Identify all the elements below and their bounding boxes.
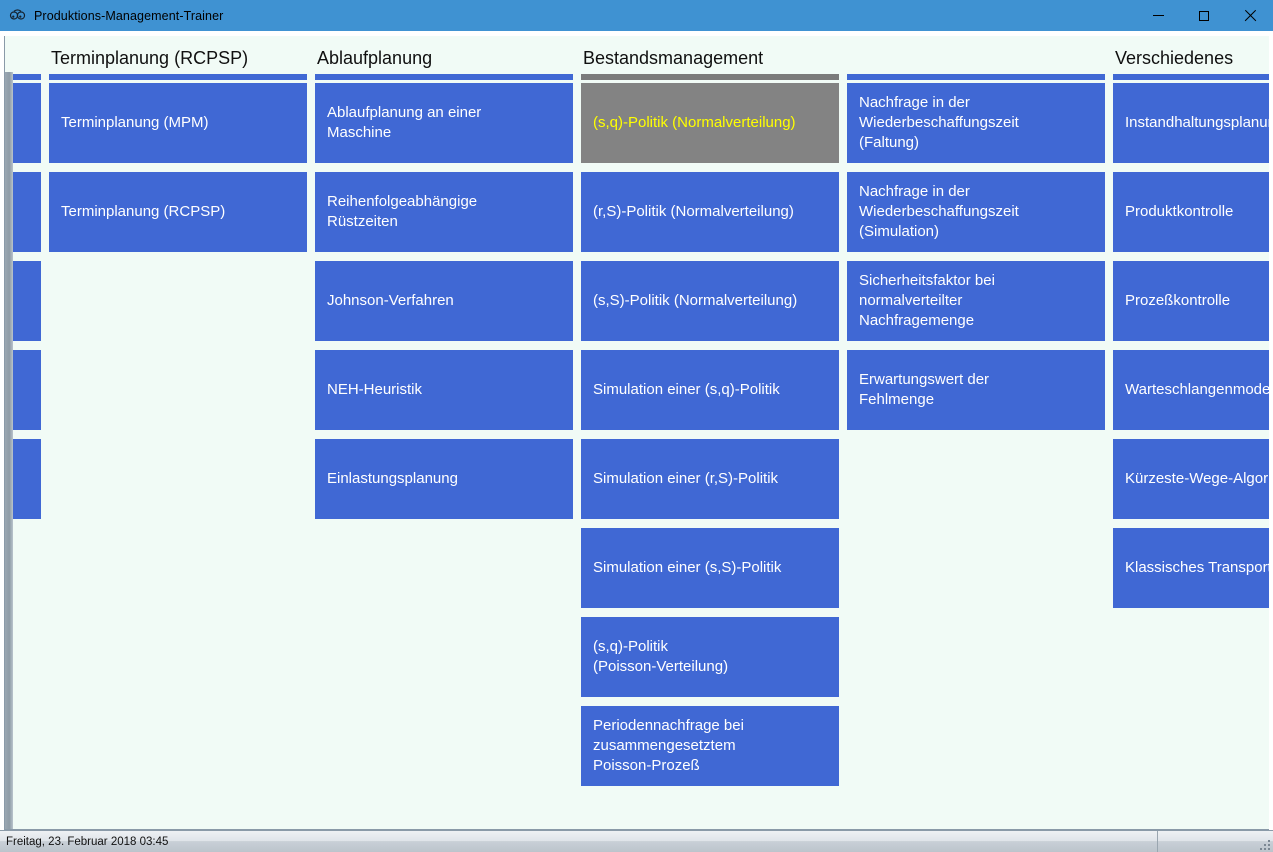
module-tile[interactable]: Einlastungsplanung: [315, 439, 573, 519]
title-bar-left: Produktions-Management-Trainer: [0, 7, 1135, 24]
window-title: Produktions-Management-Trainer: [34, 9, 223, 23]
window-controls: [1135, 0, 1273, 31]
module-tile[interactable]: Simulation einer (s,S)-Politik: [581, 528, 839, 608]
module-tile[interactable]: Instandhaltungsplanung: [1113, 83, 1269, 163]
module-tile[interactable]: Nachfrage in der Wiederbeschaffungszeit …: [847, 172, 1105, 252]
column-header: [847, 43, 1105, 74]
module-tile[interactable]: Produktkontrolle: [1113, 172, 1269, 252]
client-area: erteerteerte )Terminplanung (RCPSP)Termi…: [0, 31, 1273, 830]
status-secondary-pane: [1158, 831, 1273, 852]
column-header: Verschiedenes: [1113, 43, 1269, 74]
column-rule: [847, 74, 1105, 80]
module-column: Nachfrage in der Wiederbeschaffungszeit …: [847, 36, 1105, 439]
module-board: erteerteerte )Terminplanung (RCPSP)Termi…: [4, 36, 1269, 829]
maximize-icon: [1199, 11, 1209, 21]
module-tile[interactable]: Terminplanung (RCPSP): [49, 172, 307, 252]
module-tile[interactable]: Prozeßkontrolle: [1113, 261, 1269, 341]
close-icon: [1244, 9, 1257, 22]
title-bar[interactable]: Produktions-Management-Trainer: [0, 0, 1273, 31]
close-button[interactable]: [1227, 0, 1273, 31]
module-tile-selected[interactable]: (s,q)-Politik (Normalverteilung): [581, 83, 839, 163]
module-tile[interactable]: Simulation einer (r,S)-Politik: [581, 439, 839, 519]
module-tile[interactable]: Sicherheitsfaktor bei normalverteilter N…: [847, 261, 1105, 341]
vertical-splitter[interactable]: [5, 72, 13, 829]
module-tile[interactable]: Kürzeste-Wege-Algorithmus: [1113, 439, 1269, 519]
column-rule: [581, 74, 839, 80]
app-glasses-icon: [9, 7, 26, 24]
status-datetime: Freitag, 23. Februar 2018 03:45: [0, 831, 1158, 852]
module-tile[interactable]: Nachfrage in der Wiederbeschaffungszeit …: [847, 83, 1105, 163]
column-header: Terminplanung (RCPSP): [49, 43, 307, 74]
module-tile[interactable]: Terminplanung (MPM): [49, 83, 307, 163]
module-tile[interactable]: Warteschlangenmodelle: [1113, 350, 1269, 430]
maximize-button[interactable]: [1181, 0, 1227, 31]
column-header: [4, 43, 41, 74]
module-tile[interactable]: (s,q)-Politik (Poisson-Verteilung): [581, 617, 839, 697]
module-column: VerschiedenesInstandhaltungsplanungProdu…: [1113, 36, 1269, 617]
column-rule: [1113, 74, 1269, 80]
column-header: Bestandsmanagement: [581, 43, 839, 74]
minimize-icon: [1153, 15, 1164, 16]
module-tile[interactable]: Ablaufplanung an einer Maschine: [315, 83, 573, 163]
module-tile[interactable]: (s,S)-Politik (Normalverteilung): [581, 261, 839, 341]
module-tile[interactable]: Periodennachfrage bei zusammengesetztem …: [581, 706, 839, 786]
module-tile[interactable]: Simulation einer (s,q)-Politik: [581, 350, 839, 430]
module-tile[interactable]: (r,S)-Politik (Normalverteilung): [581, 172, 839, 252]
column-rule: [315, 74, 573, 80]
module-tile[interactable]: Erwartungswert der Fehlmenge: [847, 350, 1105, 430]
resize-grip-icon[interactable]: [1257, 837, 1270, 850]
column-rule: [49, 74, 307, 80]
module-tile[interactable]: NEH-Heuristik: [315, 350, 573, 430]
minimize-button[interactable]: [1135, 0, 1181, 31]
module-column: Bestandsmanagement(s,q)-Politik (Normalv…: [581, 36, 839, 795]
column-header: Ablaufplanung: [315, 43, 573, 74]
module-tile[interactable]: Klassisches Transportproblem: [1113, 528, 1269, 608]
module-column: AblaufplanungAblaufplanung an einer Masc…: [315, 36, 573, 528]
module-board-frame: erteerteerte )Terminplanung (RCPSP)Termi…: [4, 36, 1269, 830]
module-tile[interactable]: Reihenfolgeabhängige Rüstzeiten: [315, 172, 573, 252]
module-tile[interactable]: Johnson-Verfahren: [315, 261, 573, 341]
status-bar: Freitag, 23. Februar 2018 03:45: [0, 830, 1273, 852]
module-column: Terminplanung (RCPSP)Terminplanung (MPM)…: [49, 36, 307, 261]
application-window: Produktions-Management-Trainer erteertee…: [0, 0, 1273, 852]
